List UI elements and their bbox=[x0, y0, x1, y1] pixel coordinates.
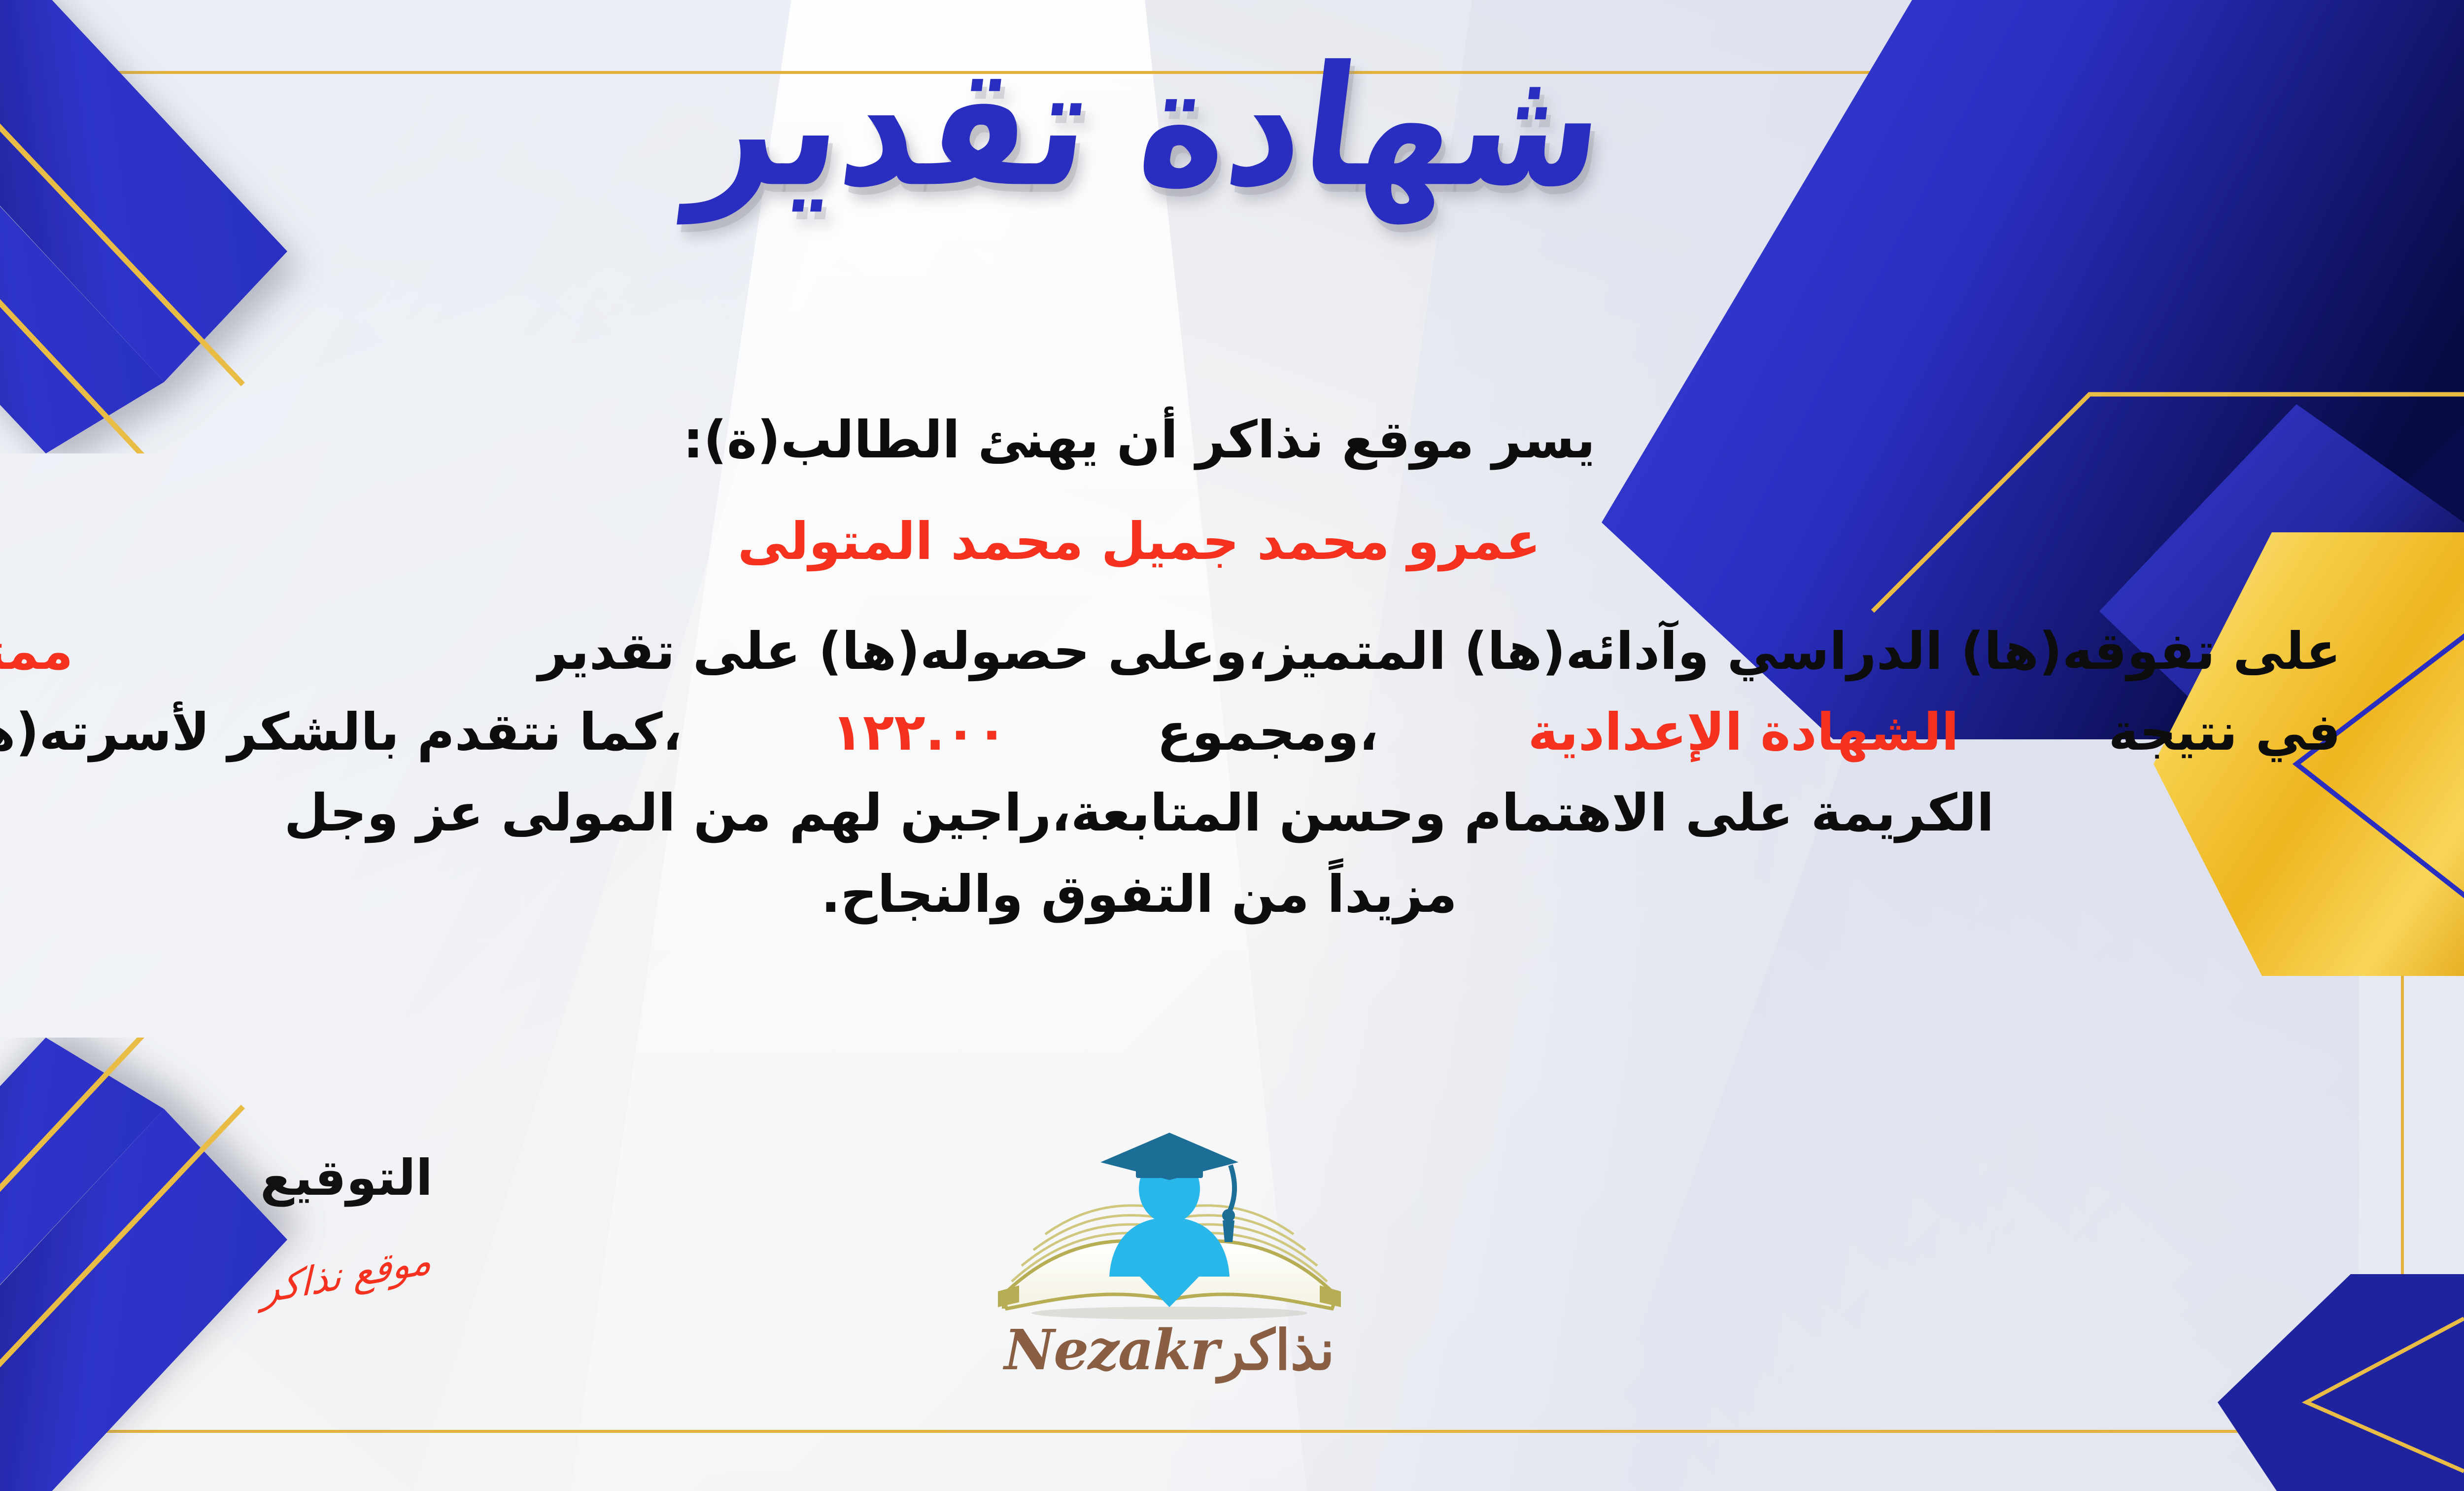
logo-name-ar: نذاكر bbox=[1218, 1318, 1335, 1383]
site-logo: نذاكرNezakr bbox=[972, 1129, 1367, 1383]
thanks-line: الكريمة على الاهتمام وحسن المتابعة،راجين… bbox=[0, 772, 2341, 853]
achievement-line: على تفوقه(ها) الدراسي وآدائه(ها) المتميز… bbox=[0, 611, 2341, 692]
exam-line: في نتيجة الشهادة الإعدادية ،ومجموع ١٢٢.٠… bbox=[0, 692, 2341, 772]
corner-ornament-top-left bbox=[0, 0, 499, 453]
grade-value: ممتاز bbox=[0, 611, 73, 692]
logo-name-en: Nezakr bbox=[1004, 1318, 1218, 1383]
student-name: عمرو محمد جميل محمد المتولى bbox=[0, 501, 2341, 582]
intro-line: يسر موقع نذاكر أن يهنئ الطالب(ة): bbox=[0, 399, 2341, 480]
total-label: ،ومجموع bbox=[1157, 692, 1378, 772]
total-score: ١٢٢.٠٠ bbox=[831, 692, 1007, 772]
corner-ornament-bottom-right bbox=[2188, 1274, 2464, 1491]
frame-border-right bbox=[2401, 71, 2404, 1433]
graduate-book-icon bbox=[972, 1129, 1367, 1321]
signature-script: موقع نذاكر bbox=[262, 1238, 432, 1313]
certificate: شهادة تقدير يسر موقع نذاكر أن يهنئ الطال… bbox=[0, 0, 2464, 1491]
certificate-title-wrap: شهادة تقدير bbox=[0, 35, 2464, 219]
page-title: شهادة تقدير bbox=[683, 24, 1616, 231]
frame-border-top bbox=[0, 71, 2405, 74]
frame-border-bottom bbox=[0, 1430, 2405, 1433]
closing-line: مزيداً من التفوق والنجاح. bbox=[0, 854, 2341, 935]
exam-prefix: في نتيجة bbox=[2108, 692, 2341, 772]
logo-wordmark: نذاكرNezakr bbox=[972, 1318, 1367, 1383]
certificate-body: يسر موقع نذاكر أن يهنئ الطالب(ة): عمرو م… bbox=[0, 399, 2341, 935]
exam-name: الشهادة الإعدادية bbox=[1528, 692, 1959, 772]
signature-label: التوقيع bbox=[208, 1148, 484, 1208]
signature-block: التوقيع موقع نذاكر bbox=[208, 1148, 484, 1297]
achievement-text: على تفوقه(ها) الدراسي وآدائه(ها) المتميز… bbox=[538, 611, 2341, 692]
thanks-suffix: ،كما نتقدم بالشكر لأسرته(ها) bbox=[0, 692, 682, 772]
